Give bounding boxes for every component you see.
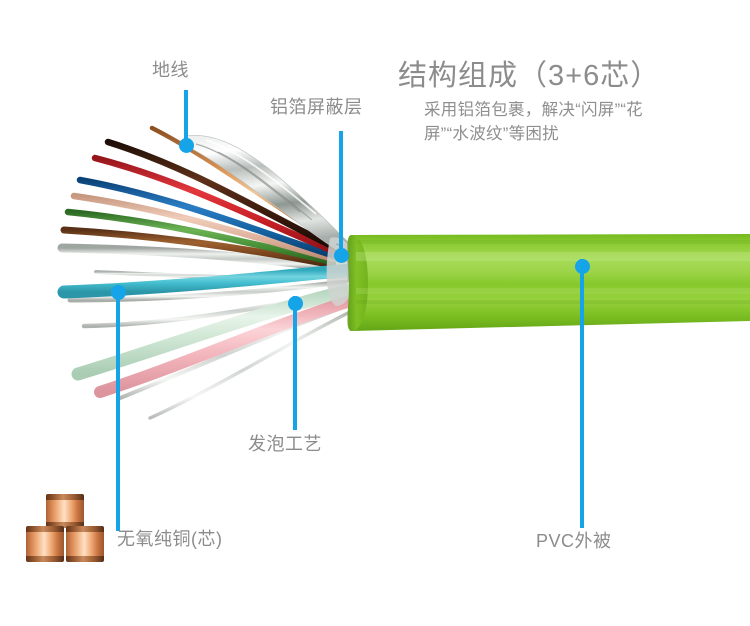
label-oxygen-free-copper: 无氧纯铜(芯) xyxy=(117,527,223,551)
page-subtitle: 采用铝箔包裹，解决“闪屏”“花屏”“水波纹”等困扰 xyxy=(424,99,674,147)
callout-stem xyxy=(339,131,343,255)
infographic-canvas: 结构组成（3+6芯） 采用铝箔包裹，解决“闪屏”“花屏”“水波纹”等困扰 地线 … xyxy=(0,0,750,626)
spool-flange-bottom xyxy=(26,556,64,562)
callout-stem xyxy=(293,296,297,430)
copper-spool-left xyxy=(26,526,64,562)
spool-flange-bottom xyxy=(66,556,104,562)
spool-body xyxy=(26,530,64,558)
callout-dot xyxy=(575,259,590,274)
spool-flange-top xyxy=(66,526,104,532)
callout-dot xyxy=(111,285,126,300)
label-pvc-jacket: PVC外被 xyxy=(536,529,612,553)
callout-stem xyxy=(184,90,188,145)
callout-dot xyxy=(334,248,349,263)
callout-stem xyxy=(580,259,584,528)
copper-spool-right xyxy=(66,526,104,562)
lower-wire-bundle xyxy=(64,270,354,418)
spool-body xyxy=(66,530,104,558)
copper-spools-graphic xyxy=(26,494,104,562)
callout-stem xyxy=(116,285,120,531)
label-foam-process: 发泡工艺 xyxy=(248,432,322,456)
spool-flange-top xyxy=(46,494,84,500)
label-foil-shield: 铝箔屏蔽层 xyxy=(270,95,363,119)
callout-dot xyxy=(179,138,194,153)
page-title: 结构组成（3+6芯） xyxy=(398,52,660,94)
spool-flange-top xyxy=(26,526,64,532)
callout-dot xyxy=(288,296,303,311)
spool-body xyxy=(46,498,84,524)
label-ground-wire: 地线 xyxy=(152,58,189,82)
pvc-outer-jacket xyxy=(347,234,750,331)
copper-spool-top xyxy=(46,494,84,528)
